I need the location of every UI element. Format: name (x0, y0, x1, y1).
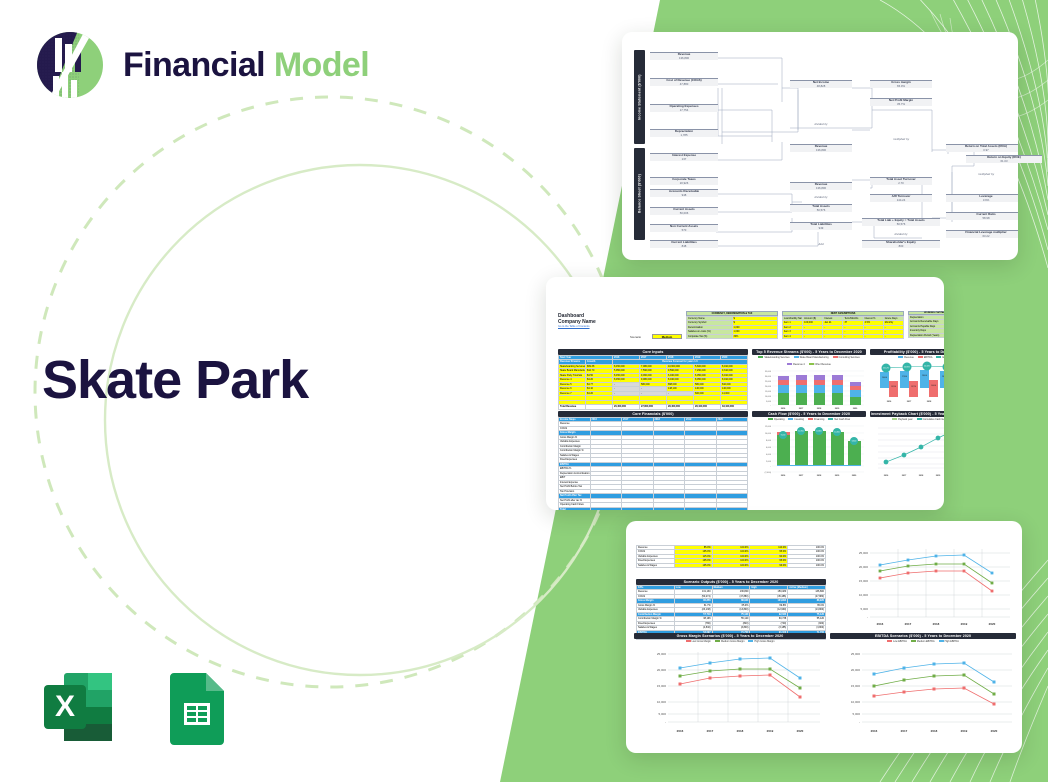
cell (590, 507, 622, 510)
svg-text:2016: 2016 (677, 729, 684, 733)
scenario-outputs-table: KPIsLowMediumHighActive (Medium)Revenue1… (636, 585, 826, 640)
svg-text:15,000: 15,000 (765, 391, 772, 393)
svg-text:54.85%: 54.85% (904, 367, 910, 369)
dupont-node: Current Ratio 58.98 (946, 212, 1018, 220)
svg-text:20,000: 20,000 (657, 668, 667, 672)
chart-plot: 70,000 60,000 50,000 40,000 30,000 20,00… (870, 422, 944, 478)
svg-text:2017: 2017 (907, 401, 912, 403)
svg-text:-: - (867, 615, 868, 619)
dupont-node: Interest Expense 137 (650, 153, 718, 161)
cell (716, 507, 748, 510)
svg-text:-: - (770, 405, 771, 407)
microsoft-excel-icon[interactable]: X (36, 665, 120, 749)
svg-text:25,000: 25,000 (859, 551, 869, 555)
svg-text:2018: 2018 (737, 729, 744, 733)
dupont-node: Cost of Revenue (COGS) 47,880 (650, 78, 718, 86)
svg-text:2018: 2018 (817, 408, 822, 410)
dupont-operator: divided by (790, 195, 852, 199)
svg-text:27,800: 27,800 (902, 376, 907, 378)
scenario-sheet: Revenue85.0%100.0%110.0%100.0%COGS105.0%… (626, 521, 1022, 753)
svg-text:28,400: 28,400 (922, 375, 927, 377)
core-financials-block: Core Financials ($'000) Income Steps 201… (558, 411, 748, 510)
svg-text:2018: 2018 (933, 622, 940, 626)
svg-text:10,000: 10,000 (765, 396, 772, 398)
chart-profitability: Profitability ($'000) - 5 Years to Decem… (870, 349, 944, 407)
svg-text:2016: 2016 (781, 475, 786, 477)
svg-text:10,600: 10,600 (816, 431, 822, 433)
svg-text:2018: 2018 (817, 475, 822, 477)
svg-text:X: X (55, 690, 75, 723)
svg-text:10,000: 10,000 (657, 700, 667, 704)
svg-text:15,000: 15,000 (851, 684, 861, 688)
svg-text:2016: 2016 (884, 475, 889, 477)
svg-text:2019: 2019 (961, 622, 968, 626)
svg-text:4,000: 4,000 (766, 454, 772, 456)
svg-text:15,000: 15,000 (859, 579, 869, 583)
brand-name-part2: Model (274, 46, 369, 84)
scenario-label: Scenario (630, 335, 641, 339)
dupont-node: Gross margin 65.0% (870, 80, 932, 88)
cell (685, 507, 717, 510)
svg-text:25,000: 25,000 (657, 652, 667, 656)
dupont-node: Total Liab + Equity = Total Assets 50,57… (862, 218, 940, 226)
dupont-node: Leverage 3.9% (946, 194, 1018, 202)
chart-top5-revenue-streams: Top 5 Revenue Streams ($'000) - 5 Years … (752, 349, 866, 407)
svg-text:54.40%: 54.40% (924, 366, 930, 368)
svg-text:6,800: 6,800 (852, 441, 857, 443)
svg-text:10,200: 10,200 (834, 432, 840, 434)
svg-text:5,000: 5,000 (766, 401, 772, 403)
chart-plot: 55.12% 54.85% 54.40% 53.50% 52.1% 26,400… (870, 360, 944, 404)
svg-text:2017: 2017 (707, 729, 714, 733)
brand-name: Financial Model (123, 48, 369, 82)
dupont-analysis-card[interactable]: Income Statement ($'000) Balance Sheet (… (622, 32, 1018, 260)
svg-text:20,000: 20,000 (851, 668, 861, 672)
page-title: Skate Park (42, 352, 308, 409)
svg-text:2016: 2016 (877, 622, 884, 626)
dupont-node: A/R Turnover 144.24 (870, 194, 932, 202)
dupont-node: Return on Total Assets (ROA) 0.97 (946, 144, 1018, 152)
panel-table: DepreciationDays Accounts Receivable Day… (908, 315, 944, 338)
svg-text:35,000: 35,000 (765, 371, 772, 373)
core-inputs-table: Start Year 20162017 20182019 2020 Revenu… (558, 355, 748, 410)
svg-text:2020: 2020 (797, 729, 804, 733)
svg-text:28,100: 28,100 (942, 376, 944, 378)
svg-text:2016: 2016 (781, 408, 786, 410)
dupont-node: Revenue 136,800 (650, 52, 718, 60)
dupont-node: Depreciation 1,785 (650, 129, 718, 137)
svg-text:-: - (770, 466, 771, 468)
svg-text:-: - (665, 720, 666, 724)
svg-text:15,000: 15,000 (657, 684, 667, 688)
svg-text:2019: 2019 (835, 475, 840, 477)
row-label: Salaries & Wages (637, 563, 675, 567)
dupont-node: Current Liabilities 848 (650, 240, 718, 248)
svg-text:2020: 2020 (852, 475, 857, 477)
svg-text:25,000: 25,000 (765, 381, 772, 383)
svg-text:10,700: 10,700 (798, 431, 804, 433)
chart-ebitda-scenarios: EBITDA Scenarios ($'000) - 5 Years to De… (830, 633, 1016, 743)
panel-currency-denomination-tax: CURRENCY, DENOMINATION & TAX Currency Na… (686, 311, 778, 339)
svg-text:2016: 2016 (887, 401, 892, 403)
panel-working-capital-depreciation: WORKING CAPITAL & DEPRECIATION Depreciat… (908, 311, 944, 338)
svg-text:2018: 2018 (927, 401, 932, 403)
chart-gross-margin-scenarios: Gross Margin Scenarios ($'000) - 5 Years… (634, 633, 826, 743)
svg-text:2018: 2018 (919, 475, 924, 477)
dupont-operator: Add (790, 242, 852, 246)
dupont-node: Shareholder's Equity 800 (862, 240, 940, 248)
svg-text:(2,000): (2,000) (765, 472, 772, 474)
dashboard-card[interactable]: Dashboard Company Name Go to the Table o… (546, 277, 944, 510)
dupont-node: Revenue 136,800 (790, 144, 852, 152)
svg-text:2016: 2016 (871, 729, 878, 733)
chart-investment-payback: Investment Payback Chart ($'000) - 5 Yea… (870, 411, 944, 481)
dupont-sheet: Income Statement ($'000) Balance Sheet (… (622, 32, 1018, 260)
svg-text:30,000: 30,000 (765, 376, 772, 378)
dupont-node: Accounts Receivable 948 (650, 189, 718, 197)
svg-text:20,000: 20,000 (859, 565, 869, 569)
brand-name-part1: Financial (123, 46, 274, 84)
core-inputs-block: Core Inputs Start Year 20162017 20182019… (558, 349, 748, 410)
dupont-node-roe: Return on Equity (ROE) 61.03 (966, 155, 1042, 163)
svg-text:2019: 2019 (767, 729, 774, 733)
svg-text:25,000: 25,000 (851, 652, 861, 656)
svg-text:2017: 2017 (902, 475, 907, 477)
table: Revenue85.0%100.0%110.0%100.0%COGS105.0%… (636, 545, 826, 568)
svg-text:2017: 2017 (901, 729, 908, 733)
google-sheets-icon[interactable] (154, 665, 238, 749)
dupont-node: Net Profit Margin 35.7% (870, 98, 932, 106)
table-row: Total (559, 507, 748, 510)
svg-text:2020: 2020 (989, 622, 996, 626)
dupont-node: Revenue 136,800 (790, 182, 852, 190)
poster-canvas: Financial Model Skate Park X (0, 0, 1048, 782)
scenario-card[interactable]: Revenue85.0%100.0%110.0%100.0%COGS105.0%… (626, 521, 1022, 753)
table-row: Salaries & Wages105.0%100.0%96.0%100.0% (637, 563, 826, 567)
dupont-node: Total Liabilities 949 (790, 222, 852, 230)
cell (622, 507, 654, 510)
cell: 96.0% (750, 563, 788, 567)
svg-text:2017: 2017 (799, 408, 804, 410)
chart-plot: 12,000 10,000 8,000 6,000 4,000 2,000 - … (752, 422, 866, 478)
core-financials-table: Income Steps 2016 2017 2018 2019 2020 Re… (558, 417, 748, 510)
chart-cash-flow: Cash Flow ($'000) - 5 Years to December … (752, 411, 866, 481)
dashboard-heading: Dashboard Company Name Go to the Table o… (558, 313, 596, 328)
svg-text:20,000: 20,000 (765, 386, 772, 388)
chart-plot: 35,00030,00025,000 20,00015,00010,000 5,… (752, 367, 866, 411)
svg-text:5,000: 5,000 (658, 712, 666, 716)
svg-text:10,000: 10,000 (765, 433, 772, 435)
svg-text:6,000: 6,000 (766, 447, 772, 449)
scenario-select[interactable]: Medium (652, 334, 682, 339)
panel-table: Currency Name$ Currency Symbol$ Denomina… (686, 316, 778, 339)
svg-text:2018: 2018 (931, 729, 938, 733)
svg-text:9,200: 9,200 (781, 435, 786, 437)
chart-revenue-scenarios: 25,000 20,000 15,000 10,000 5,000 - (834, 543, 1014, 635)
panel-table: Loan/Facility NameAmount ($) InterestTer… (782, 316, 904, 339)
svg-text:26,400: 26,400 (882, 377, 887, 379)
svg-text:2020: 2020 (853, 408, 858, 410)
dupont-node: Financial Leverage multiplier 63.22 (946, 230, 1018, 238)
app-icon-row: X (36, 665, 238, 749)
dupont-node: Non Current Assets 570 (650, 224, 718, 232)
svg-text:12,000: 12,000 (765, 426, 772, 428)
dupont-operator: multiplied by (946, 172, 1018, 176)
panel-debt-assumptions: DEBT ASSUMPTIONS Loan/Facility NameAmoun… (782, 311, 904, 339)
dupont-node: Net Income 48,828 (790, 80, 852, 88)
svg-text:2017: 2017 (905, 622, 912, 626)
dupont-operator: divided by (870, 232, 932, 236)
row-label: Depreciation & Amortisation (559, 471, 591, 475)
financial-model-circle-logo (33, 28, 107, 102)
dashboard-sheet: Dashboard Company Name Go to the Table o… (546, 277, 944, 510)
scenario-outputs-block: Scenario Outputs ($'000) - 5 Years to De… (636, 579, 826, 640)
cell: 105.0% (674, 563, 712, 567)
svg-text:2019: 2019 (961, 729, 968, 733)
dupont-node: Total Assets 50,576 (790, 204, 852, 212)
row-label: Total (559, 507, 591, 510)
svg-text:14,400: 14,400 (931, 385, 936, 387)
chart-plot: 25,000 20,000 15,000 10,000 5,000 - (830, 644, 1016, 740)
svg-text:13,200: 13,200 (891, 386, 896, 388)
dupont-node: Operating Expenses 17,754 (650, 104, 718, 112)
dupont-node: Total Asset Turnover 2.70 (870, 177, 932, 185)
svg-text:10,000: 10,000 (859, 593, 869, 597)
cell: 100.0% (788, 563, 826, 567)
scenario-assumptions-table: Revenue85.0%100.0%110.0%100.0%COGS105.0%… (636, 545, 826, 568)
cell: 100.0% (712, 563, 750, 567)
brand-logo: Financial Model (33, 28, 369, 102)
dupont-node: Corporate Taxes 20,926 (650, 177, 718, 185)
chart-plot: 25,000 20,000 15,000 10,000 5,000 - (634, 644, 826, 740)
svg-text:13,750: 13,750 (911, 386, 916, 388)
svg-text:10,000: 10,000 (851, 700, 861, 704)
dupont-operator: multiplied by (870, 137, 932, 141)
svg-text:5,000: 5,000 (852, 712, 860, 716)
svg-text:2019: 2019 (936, 475, 941, 477)
svg-text:8,000: 8,000 (766, 440, 772, 442)
dupont-operator: divided by (790, 122, 852, 126)
svg-text:5,000: 5,000 (860, 607, 868, 611)
chart-legend: Skateboarding Services Skate Board Manuf… (752, 355, 866, 367)
svg-text:55.12%: 55.12% (883, 368, 889, 370)
svg-text:2019: 2019 (835, 408, 840, 410)
cell (653, 507, 685, 510)
svg-text:2017: 2017 (799, 475, 804, 477)
chart-plot: 25,000 20,000 15,000 10,000 5,000 - (834, 543, 1014, 635)
svg-text:2020: 2020 (991, 729, 998, 733)
dupont-node: Current Assets 50,006 (650, 207, 718, 215)
svg-text:-: - (859, 720, 860, 724)
svg-text:2,000: 2,000 (766, 461, 772, 463)
